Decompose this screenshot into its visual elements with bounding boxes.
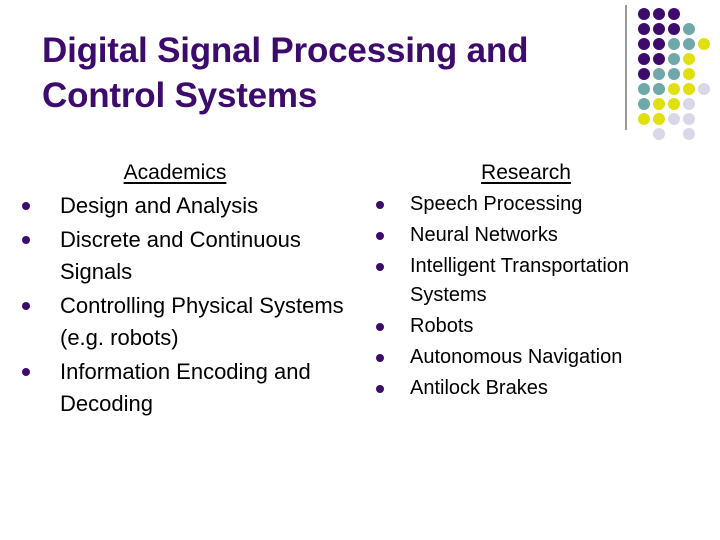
bullet-dot-icon bbox=[22, 236, 30, 244]
list-item-label: Neural Networks bbox=[410, 221, 706, 250]
bullet-list-academics: Design and AnalysisDiscrete and Continuo… bbox=[22, 190, 352, 420]
list-item: Design and Analysis bbox=[22, 190, 352, 222]
dot-grid-decoration-icon bbox=[638, 8, 716, 134]
decorative-dot bbox=[668, 8, 680, 20]
list-item-label: Controlling Physical Systems (e.g. robot… bbox=[60, 290, 352, 354]
decorative-dot bbox=[638, 68, 650, 80]
bullet-dot-icon bbox=[376, 323, 384, 331]
list-item-label: Information Encoding and Decoding bbox=[60, 356, 352, 420]
list-item-label: Robots bbox=[410, 312, 706, 341]
column-heading-research: Research bbox=[376, 160, 706, 186]
bullet-dot-icon bbox=[376, 201, 384, 209]
decorative-dot bbox=[683, 128, 695, 140]
decorative-dot bbox=[683, 113, 695, 125]
decorative-dot bbox=[683, 68, 695, 80]
decorative-dot bbox=[653, 83, 665, 95]
presentation-slide: Digital Signal Processing and Control Sy… bbox=[0, 0, 720, 540]
decorative-dot bbox=[653, 53, 665, 65]
decorative-dot bbox=[698, 38, 710, 50]
list-item-label: Autonomous Navigation bbox=[410, 343, 706, 372]
column-research: Research Speech ProcessingNeural Network… bbox=[376, 160, 706, 405]
decorative-dot bbox=[638, 23, 650, 35]
list-item: Robots bbox=[376, 312, 706, 341]
decorative-dot bbox=[668, 83, 680, 95]
decorative-dot bbox=[653, 128, 665, 140]
decorative-dot bbox=[668, 38, 680, 50]
bullet-dot-icon bbox=[376, 263, 384, 271]
decorative-dot bbox=[683, 23, 695, 35]
bullet-dot-icon bbox=[22, 202, 30, 210]
decorative-dot bbox=[638, 83, 650, 95]
decorative-dot bbox=[638, 98, 650, 110]
decorative-dot bbox=[638, 8, 650, 20]
column-heading-academics: Academics bbox=[22, 160, 352, 186]
decorative-dot bbox=[653, 113, 665, 125]
list-item: Speech Processing bbox=[376, 190, 706, 219]
decorative-dot bbox=[668, 68, 680, 80]
list-item-label: Discrete and Continuous Signals bbox=[60, 224, 352, 288]
bullet-dot-icon bbox=[376, 385, 384, 393]
decorative-dot bbox=[653, 23, 665, 35]
decorative-dot bbox=[653, 8, 665, 20]
decorative-dot bbox=[668, 98, 680, 110]
decorative-dot bbox=[638, 38, 650, 50]
bullet-list-research: Speech ProcessingNeural NetworksIntellig… bbox=[376, 190, 706, 403]
decorative-dot bbox=[698, 83, 710, 95]
decorative-dot bbox=[683, 83, 695, 95]
list-item: Autonomous Navigation bbox=[376, 343, 706, 372]
list-item: Controlling Physical Systems (e.g. robot… bbox=[22, 290, 352, 354]
list-item-label: Design and Analysis bbox=[60, 190, 352, 222]
decorative-dot bbox=[668, 53, 680, 65]
list-item: Antilock Brakes bbox=[376, 374, 706, 403]
decorative-dot bbox=[668, 113, 680, 125]
decorative-dot bbox=[638, 113, 650, 125]
decorative-dot bbox=[683, 53, 695, 65]
bullet-dot-icon bbox=[22, 368, 30, 376]
list-item: Discrete and Continuous Signals bbox=[22, 224, 352, 288]
list-item-label: Intelligent Transportation Systems bbox=[410, 252, 706, 310]
decorative-dot bbox=[683, 98, 695, 110]
list-item-label: Speech Processing bbox=[410, 190, 706, 219]
list-item-label: Antilock Brakes bbox=[410, 374, 706, 403]
bullet-dot-icon bbox=[376, 232, 384, 240]
list-item: Intelligent Transportation Systems bbox=[376, 252, 706, 310]
column-academics: Academics Design and AnalysisDiscrete an… bbox=[22, 160, 352, 422]
title-block: Digital Signal Processing and Control Sy… bbox=[42, 28, 612, 118]
list-item: Information Encoding and Decoding bbox=[22, 356, 352, 420]
logo-divider bbox=[625, 5, 627, 130]
page-title: Digital Signal Processing and Control Sy… bbox=[42, 28, 612, 118]
bullet-dot-icon bbox=[22, 302, 30, 310]
decorative-dot bbox=[653, 98, 665, 110]
decorative-dot bbox=[653, 38, 665, 50]
bullet-dot-icon bbox=[376, 354, 384, 362]
list-item: Neural Networks bbox=[376, 221, 706, 250]
decorative-dot bbox=[638, 53, 650, 65]
decorative-dot bbox=[683, 38, 695, 50]
decorative-dot bbox=[653, 68, 665, 80]
decorative-dot bbox=[668, 23, 680, 35]
